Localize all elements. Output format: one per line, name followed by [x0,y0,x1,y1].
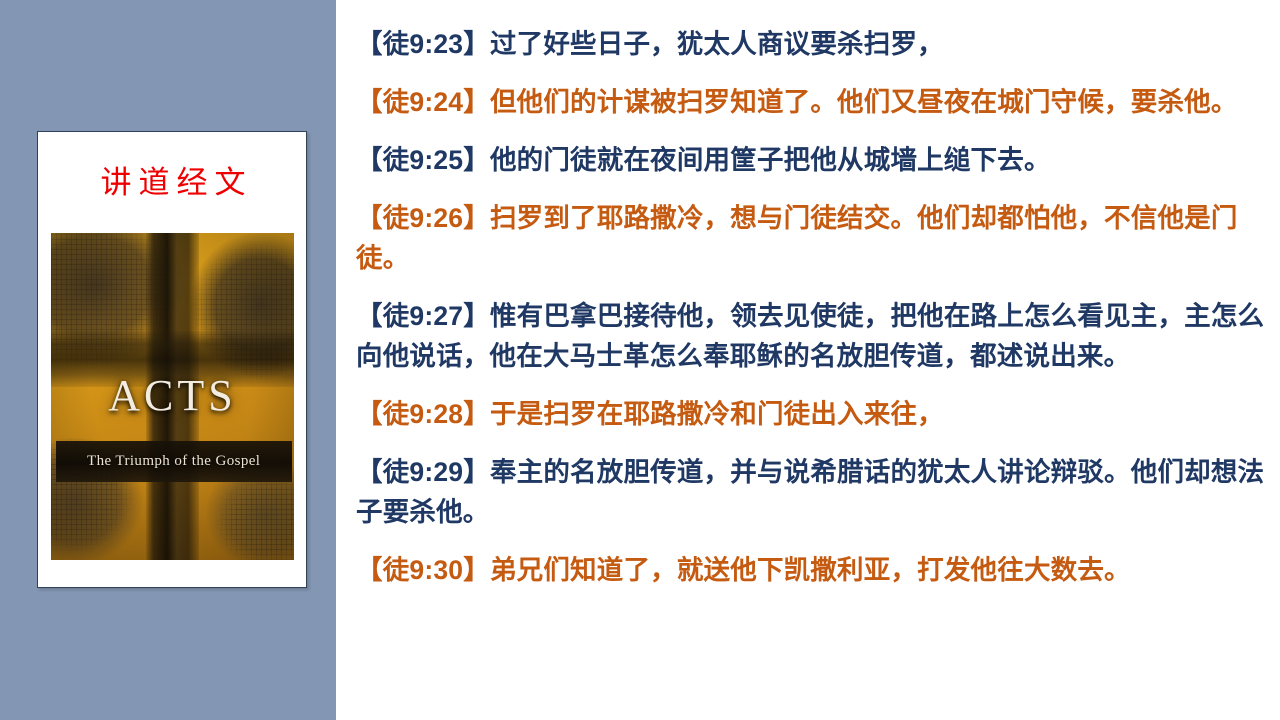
verse-paragraph: 【徒9:27】惟有巴拿巴接待他，领去见使徒，把他在路上怎么看见主，主怎么向他说话… [356,296,1276,376]
verse-reference: 【徒9:29】 [356,457,490,487]
verse-text: 弟兄们知道了，就送他下凯撒利亚，打发他往大数去。 [490,555,1131,585]
verse-reference: 【徒9:24】 [356,87,490,117]
scripture-card: 讲道经文 ACTS The Triumph of the Gospel [37,131,307,588]
cover-subtitle-text: The Triumph of the Gospel [87,453,260,470]
verse-paragraph: 【徒9:28】于是扫罗在耶路撒冷和门徒出入来往， [356,394,1276,434]
verse-reference: 【徒9:25】 [356,145,490,175]
verse-text: 于是扫罗在耶路撒冷和门徒出入来往， [490,399,944,429]
verse-paragraph: 【徒9:29】奉主的名放胆传道，并与说希腊话的犹太人讲论辩驳。他们却想法子要杀他… [356,452,1276,532]
verse-paragraph: 【徒9:25】他的门徒就在夜间用筐子把他从城墙上缒下去。 [356,140,1276,180]
verse-text: 过了好些日子，犹太人商议要杀扫罗， [490,29,944,59]
card-title: 讲道经文 [38,166,308,200]
verse-reference: 【徒9:30】 [356,555,490,585]
verse-text: 但他们的计谋被扫罗知道了。他们又昼夜在城门守候，要杀他。 [490,87,1238,117]
verse-reference: 【徒9:27】 [356,301,490,331]
verse-paragraph: 【徒9:26】扫罗到了耶路撒冷，想与门徒结交。他们却都怕他，不信他是门徒。 [356,198,1276,278]
verse-reference: 【徒9:26】 [356,203,490,233]
cover-title-text: ACTS [51,374,294,418]
acts-book-cover-image: ACTS The Triumph of the Gospel [51,233,294,560]
verse-text: 奉主的名放胆传道，并与说希腊话的犹太人讲论辩驳。他们却想法子要杀他。 [356,457,1264,527]
verse-text: 惟有巴拿巴接待他，领去见使徒，把他在路上怎么看见主，主怎么向他说话，他在大马士革… [356,301,1264,371]
verse-reference: 【徒9:23】 [356,29,490,59]
sidebar-panel: 讲道经文 ACTS The Triumph of the Gospel [0,0,336,720]
cover-subtitle-band: The Triumph of the Gospel [56,441,292,482]
slide: 讲道经文 ACTS The Triumph of the Gospel 【徒9:… [0,0,1280,720]
scripture-text-body: 【徒9:23】过了好些日子，犹太人商议要杀扫罗， 【徒9:24】但他们的计谋被扫… [356,0,1276,720]
verse-text: 他的门徒就在夜间用筐子把他从城墙上缒下去。 [490,145,1051,175]
verse-reference: 【徒9:28】 [356,399,490,429]
verse-paragraph: 【徒9:30】弟兄们知道了，就送他下凯撒利亚，打发他往大数去。 [356,550,1276,590]
verse-paragraph: 【徒9:24】但他们的计谋被扫罗知道了。他们又昼夜在城门守候，要杀他。 [356,82,1276,122]
verse-paragraph: 【徒9:23】过了好些日子，犹太人商议要杀扫罗， [356,24,1276,64]
